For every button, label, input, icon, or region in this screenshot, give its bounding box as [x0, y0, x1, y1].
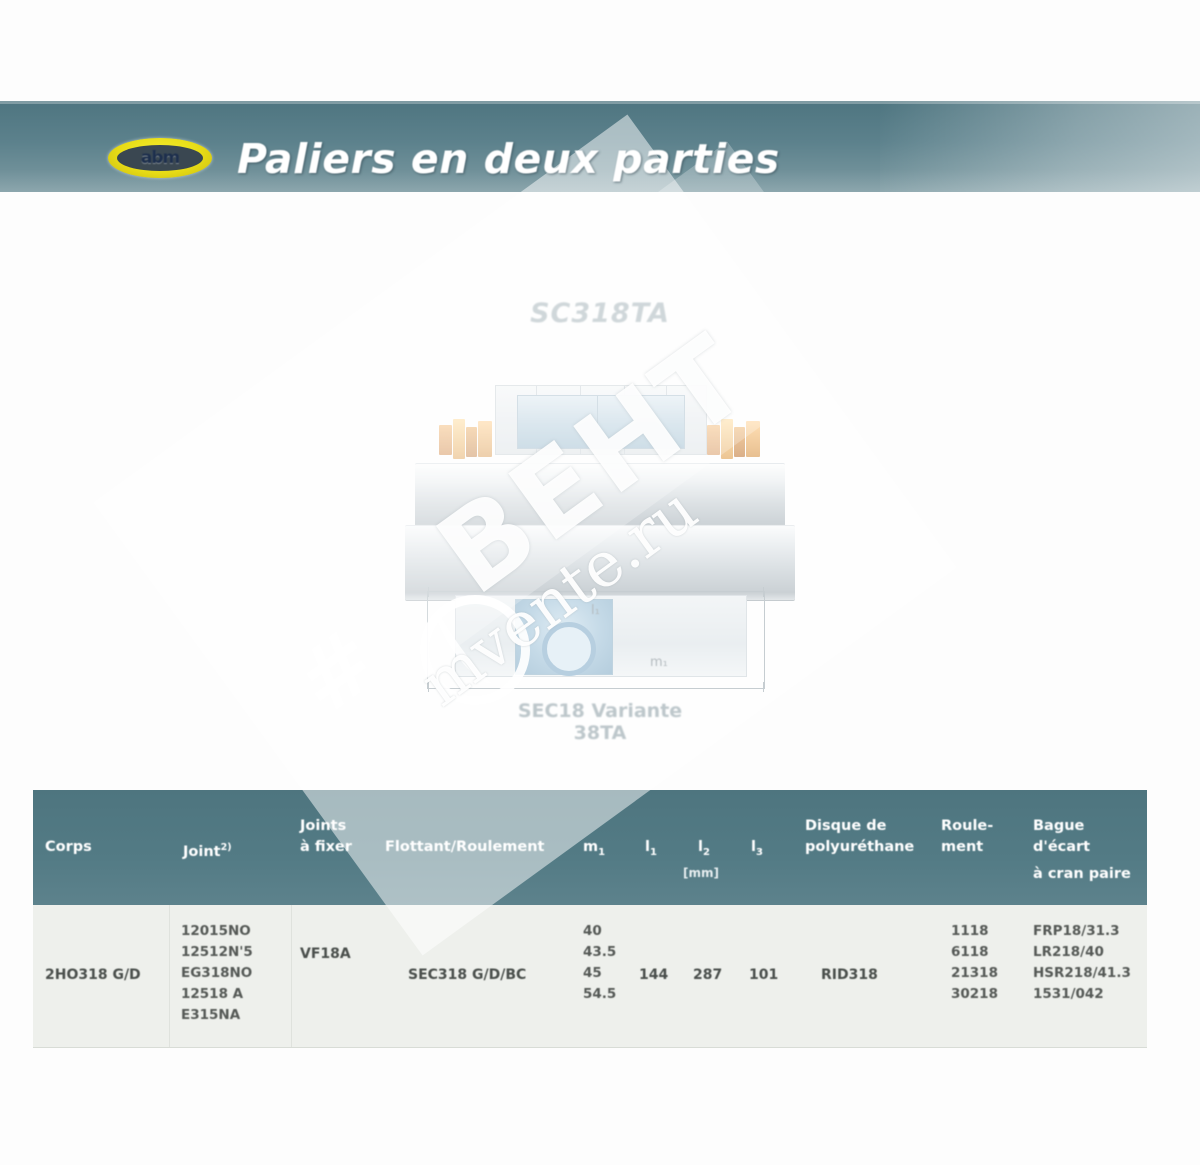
cell-bague-stack: FRP18/31.3 LR218/40 HSR218/41.3 1531/042: [1033, 921, 1131, 1005]
dimension-label-l1: l₁: [591, 603, 600, 618]
th-m1: m1: [583, 839, 605, 861]
th-roulement-line1: Roule-: [941, 818, 993, 835]
bague-code: 1531/042: [1033, 984, 1131, 1005]
th-joint: Joint2): [183, 839, 232, 861]
dimension-label-m1: m₁: [650, 655, 668, 670]
housing-cap-left: [517, 395, 605, 449]
product-figure: SC318TA: [300, 270, 900, 770]
th-l1: l1: [645, 839, 657, 861]
bague-code: HSR218/41.3: [1033, 963, 1131, 984]
m1-value: 43.5: [583, 942, 616, 963]
th-corps: Corps: [45, 839, 92, 856]
th-roulement-line2: ment: [941, 839, 983, 856]
roulement-code: 21318: [951, 963, 998, 984]
roulement-code: 1118: [951, 921, 998, 942]
abm-logo-icon: abm: [108, 136, 212, 180]
cell-corps: 2HO318 G/D: [45, 965, 141, 986]
shaft-lower: [405, 525, 795, 601]
th-bague-line1: Bague: [1033, 818, 1084, 835]
bague-code: FRP18/31.3: [1033, 921, 1131, 942]
cell-m1-stack: 40 43.5 45 54.5: [583, 921, 616, 1005]
th-disque-line1: Disque de: [805, 818, 886, 835]
cell-flottant: SEC318 G/D/BC: [408, 965, 526, 986]
joint-code: EG318NO: [181, 963, 253, 984]
cell-l2: 287: [693, 965, 722, 986]
th-flottant: Flottant/Roulement: [385, 839, 545, 856]
th-bague-line2: d'écart: [1033, 839, 1090, 856]
figure-caption-line1: SEC18 Variante: [300, 700, 900, 722]
cell-roulement-stack: 1118 6118 21318 30218: [951, 921, 998, 1005]
th-group-joints: Joints: [300, 818, 346, 835]
figure-code-label: SC318TA: [300, 298, 900, 329]
th-l2: l2: [698, 839, 710, 861]
roulement-code: 6118: [951, 942, 998, 963]
m1-value: 45: [583, 963, 616, 984]
joint-code: 12015NO: [181, 921, 253, 942]
document-page: abm Paliers en deux parties SC318TA: [0, 0, 1200, 1165]
cell-a-fixer: VF18A: [300, 944, 351, 965]
figure-caption: SEC18 Variante 38TA: [300, 700, 900, 744]
cell-joints-stack: 12015NO 12512N'5 EG318NO 12518 A E315NA: [181, 921, 253, 1026]
m1-value: 40: [583, 921, 616, 942]
joint-code: 12512N'5: [181, 942, 253, 963]
cell-disque: RID318: [821, 965, 878, 986]
specifications-table: Corps Joint2) Joints à fixer Flottant/Ro…: [33, 790, 1147, 1048]
th-unit-mm: [mm]: [683, 866, 719, 880]
m1-value: 54.5: [583, 984, 616, 1005]
joint-code: 12518 A: [181, 984, 253, 1005]
bolt-cluster-left: [437, 417, 495, 463]
th-l3: l3: [751, 839, 763, 861]
logo-wordmark: abm: [108, 147, 212, 169]
th-bague-line3: à cran paire: [1033, 866, 1131, 883]
page-title: Paliers en deux parties: [237, 135, 780, 183]
table-row: 2HO318 G/D 12015NO 12512N'5 EG318NO 1251…: [33, 905, 1147, 1048]
cell-l1: 144: [639, 965, 668, 986]
bague-code: LR218/40: [1033, 942, 1131, 963]
table-header-row: Corps Joint2) Joints à fixer Flottant/Ro…: [33, 790, 1147, 905]
figure-caption-line2: 38TA: [300, 722, 900, 744]
joint-code: E315NA: [181, 1005, 253, 1026]
th-disque-line2: polyuréthane: [805, 839, 914, 856]
bearing-housing-drawing: l₁ m₁: [395, 355, 805, 685]
th-a-fixer: à fixer: [300, 839, 352, 856]
housing-cap-right: [597, 395, 685, 449]
bolt-cluster-right: [705, 417, 763, 463]
roulement-code: 30218: [951, 984, 998, 1005]
shaft-upper: [415, 463, 785, 533]
cell-l3: 101: [749, 965, 778, 986]
